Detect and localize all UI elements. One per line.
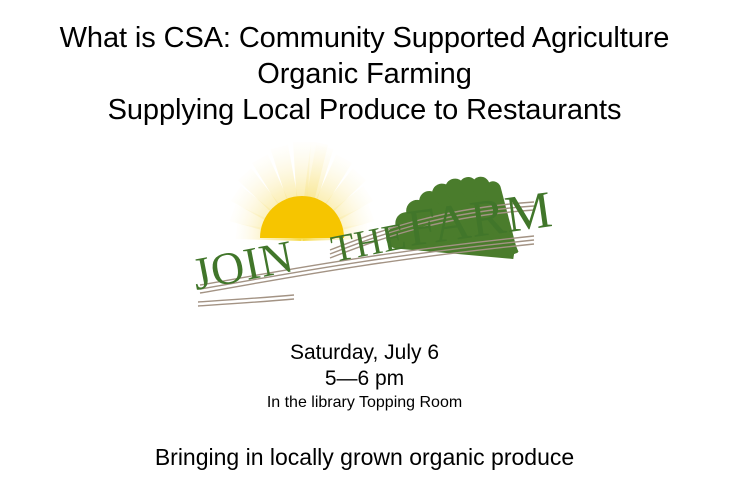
page-title: What is CSA: Community Supported Agricul… (0, 20, 729, 128)
join-the-farm-logo: JOIN THE FARM! (182, 142, 552, 327)
tagline-text: Bringing in locally grown organic produc… (0, 443, 729, 472)
title-line-1: What is CSA: Community Supported Agricul… (0, 20, 729, 56)
title-line-2: Organic Farming (0, 56, 729, 92)
event-time: 5—6 pm (0, 366, 729, 392)
slide-canvas: What is CSA: Community Supported Agricul… (0, 0, 729, 489)
logo-word-farm: FARM! (404, 179, 552, 258)
tagline-block: Bringing in locally grown organic produc… (0, 443, 729, 472)
event-details: Saturday, July 6 5—6 pm In the library T… (0, 340, 729, 413)
event-location: In the library Topping Room (0, 392, 729, 413)
logo-word-join: JOIN (188, 230, 298, 299)
event-date: Saturday, July 6 (0, 340, 729, 366)
title-line-3: Supplying Local Produce to Restaurants (0, 92, 729, 128)
logo-svg: JOIN THE FARM! (182, 142, 552, 327)
